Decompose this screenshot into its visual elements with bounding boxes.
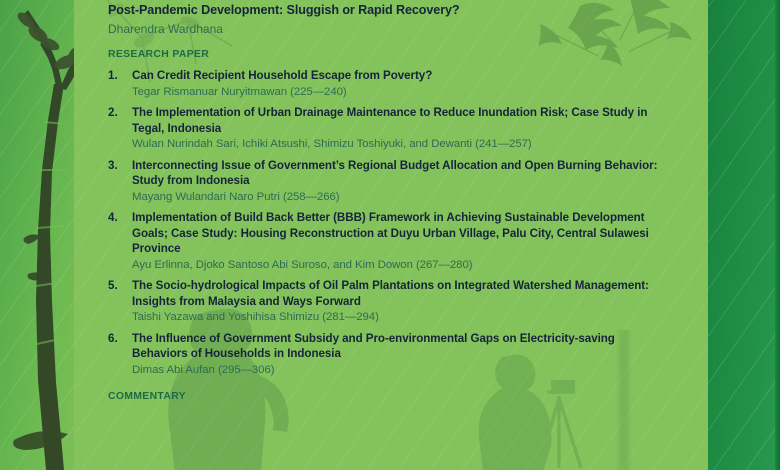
entry-body: Interconnecting Issue of Government’s Re… xyxy=(132,158,668,206)
list-item[interactable]: 6. The Influence of Government Subsidy a… xyxy=(108,326,668,379)
featured-article-author: Dharendra Wardhana xyxy=(108,18,668,38)
entry-title[interactable]: Implementation of Build Back Better (BBB… xyxy=(132,210,668,257)
contents-column: Post-Pandemic Development: Sluggish or R… xyxy=(108,0,668,470)
entry-title[interactable]: The Socio-hydrological Impacts of Oil Pa… xyxy=(132,278,668,309)
entry-body: The Socio-hydrological Impacts of Oil Pa… xyxy=(132,278,668,326)
featured-article-title[interactable]: Post-Pandemic Development: Sluggish or R… xyxy=(108,0,668,18)
entry-authors: Dimas Abi Aufan (295—306) xyxy=(132,362,668,379)
entry-title[interactable]: The Implementation of Urban Drainage Mai… xyxy=(132,105,668,136)
journal-contents-page: Post-Pandemic Development: Sluggish or R… xyxy=(0,0,780,470)
entry-number: 3. xyxy=(108,158,132,174)
list-item[interactable]: 4. Implementation of Build Back Better (… xyxy=(108,205,668,273)
left-decorative-panel xyxy=(0,0,74,470)
entry-title[interactable]: Interconnecting Issue of Government’s Re… xyxy=(132,158,668,189)
entry-body: The Influence of Government Subsidy and … xyxy=(132,331,668,379)
list-item[interactable]: 1. Can Credit Recipient Household Escape… xyxy=(108,63,668,100)
entry-authors: Wulan Nurindah Sari, Ichiki Atsushi, Shi… xyxy=(132,136,668,153)
entry-number: 5. xyxy=(108,278,132,294)
entry-body: The Implementation of Urban Drainage Mai… xyxy=(132,105,668,153)
section-heading-research-paper: RESEARCH PAPER xyxy=(108,38,668,63)
right-panel-stripes xyxy=(708,0,780,470)
entry-authors: Tegar Rismanuar Nuryitmawan (225—240) xyxy=(132,84,668,101)
entry-title[interactable]: Can Credit Recipient Household Escape fr… xyxy=(132,68,668,84)
entry-body: Can Credit Recipient Household Escape fr… xyxy=(132,68,668,100)
right-edge-border xyxy=(775,0,780,470)
list-item[interactable]: 5. The Socio-hydrological Impacts of Oil… xyxy=(108,273,668,326)
list-item[interactable]: 2. The Implementation of Urban Drainage … xyxy=(108,100,668,153)
entry-authors: Ayu Erlinna, Djoko Santoso Abi Suroso, a… xyxy=(132,257,668,274)
list-item[interactable]: 3. Interconnecting Issue of Government’s… xyxy=(108,153,668,206)
entry-number: 2. xyxy=(108,105,132,121)
entry-title[interactable]: The Influence of Government Subsidy and … xyxy=(132,331,668,362)
right-decorative-panel xyxy=(708,0,780,470)
research-paper-list: 1. Can Credit Recipient Household Escape… xyxy=(108,63,668,378)
entry-body: Implementation of Build Back Better (BBB… xyxy=(132,210,668,273)
entry-number: 1. xyxy=(108,68,132,84)
bamboo-tree-silhouette-icon xyxy=(0,0,74,470)
section-heading-commentary: COMMENTARY xyxy=(108,378,668,405)
entry-number: 4. xyxy=(108,210,132,226)
entry-authors: Mayang Wulandari Naro Putri (258—266) xyxy=(132,189,668,206)
entry-authors: Taishi Yazawa and Yoshihisa Shimizu (281… xyxy=(132,309,668,326)
entry-number: 6. xyxy=(108,331,132,347)
